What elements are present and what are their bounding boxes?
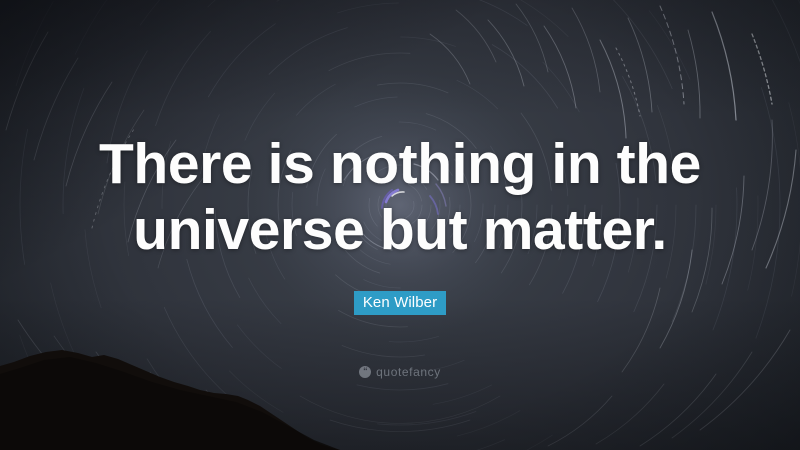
- author-name-badge[interactable]: Ken Wilber: [354, 291, 446, 315]
- quote-line-2: universe but matter.: [0, 197, 800, 263]
- quote-line-1: There is nothing in the: [0, 131, 800, 197]
- rock-silhouette: [0, 330, 340, 450]
- watermark-brand-label: quotefancy: [376, 366, 441, 378]
- author-container: Ken Wilber: [0, 291, 800, 315]
- quote-mark-circle-icon: “: [359, 366, 371, 378]
- watermark[interactable]: “ quotefancy: [0, 366, 800, 378]
- quote-text: There is nothing in the universe but mat…: [0, 131, 800, 263]
- quote-wallpaper: There is nothing in the universe but mat…: [0, 0, 800, 450]
